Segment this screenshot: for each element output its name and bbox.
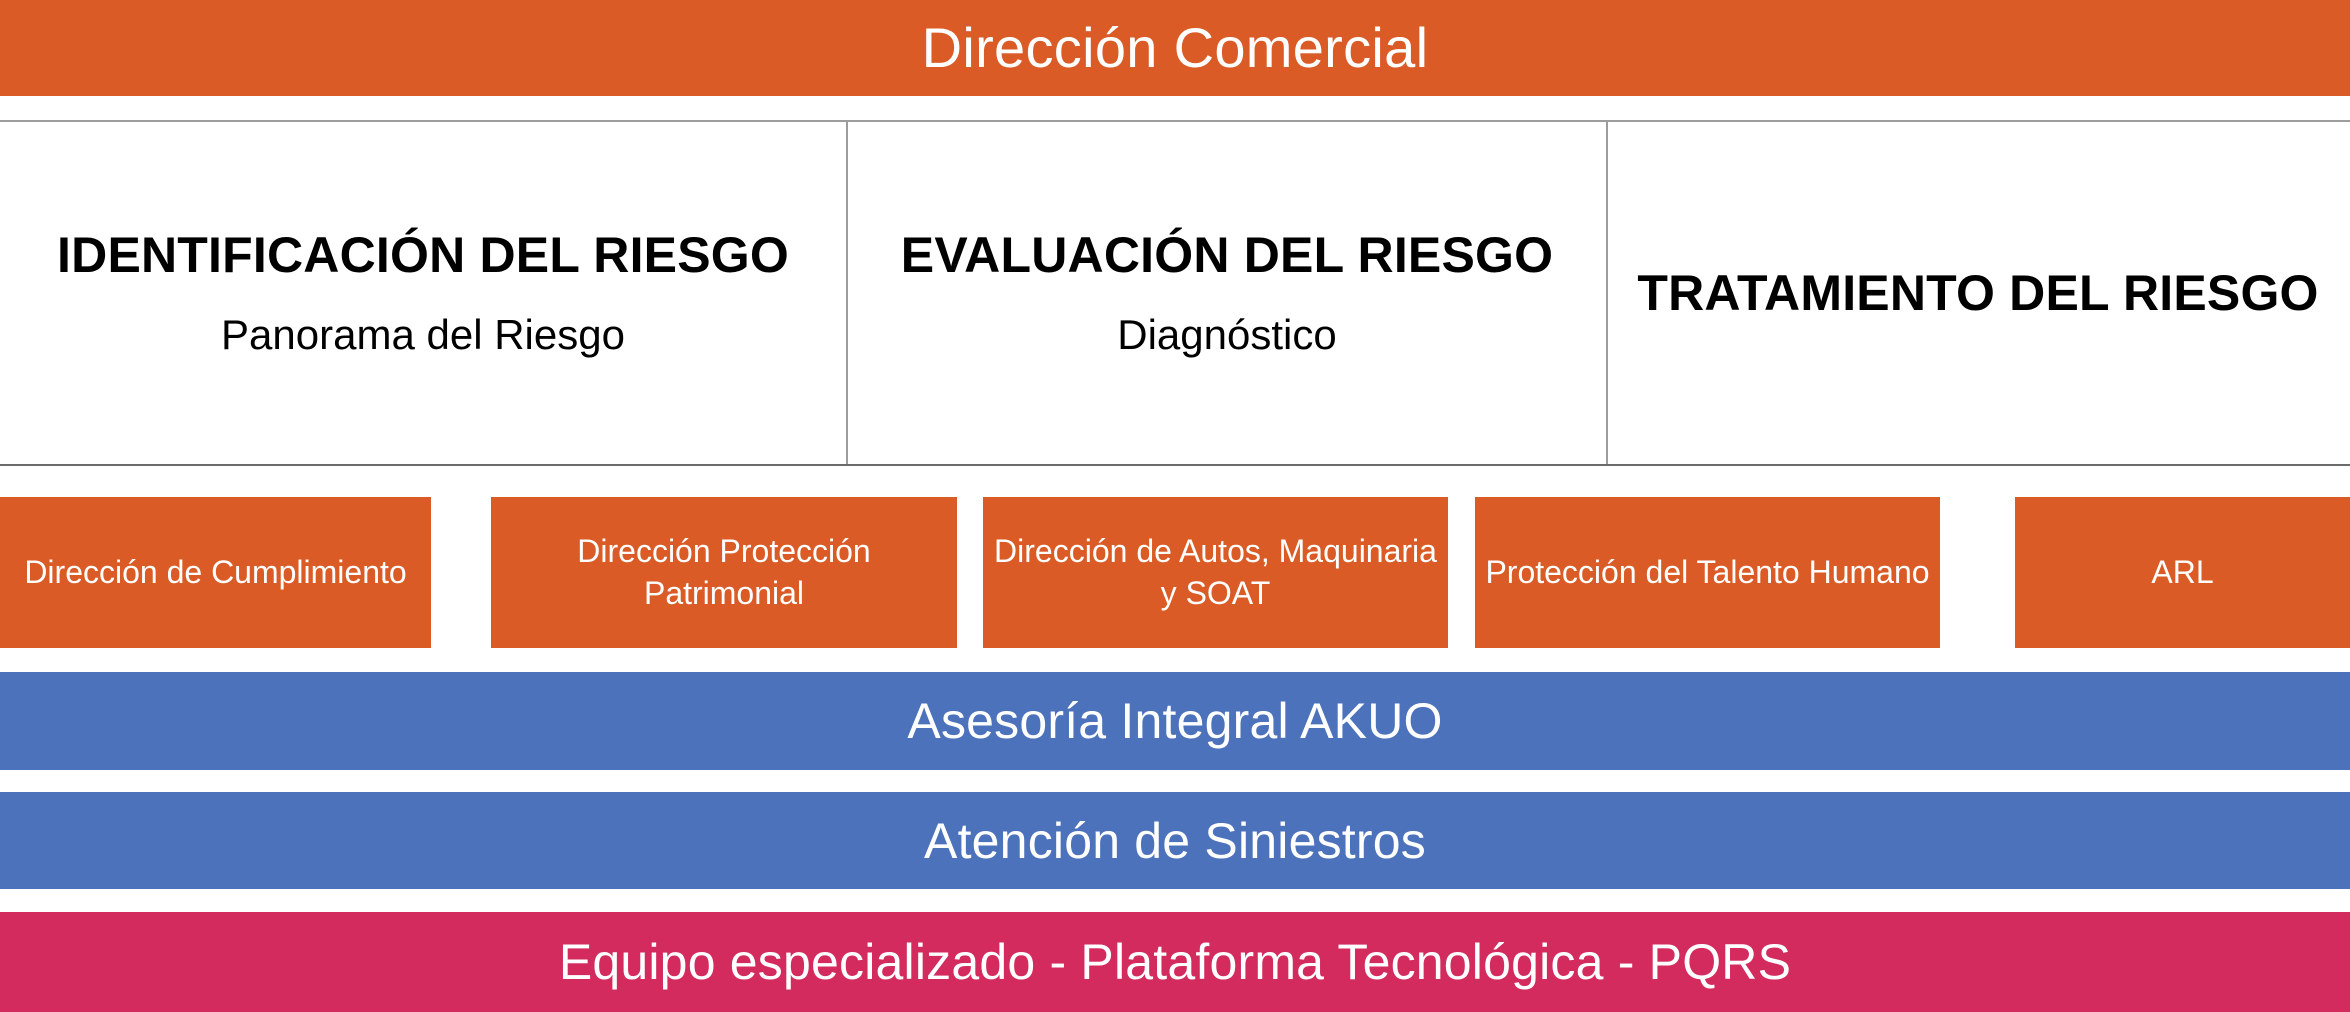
process-column-identificacion: IDENTIFICACIÓN DEL RIESGO Panorama del R…: [0, 122, 848, 464]
department-box-arl[interactable]: ARL: [2015, 497, 2350, 648]
process-column-title: TRATAMIENTO DEL RIESGO: [1637, 264, 2318, 322]
department-box-label: Dirección de Cumplimiento: [24, 552, 406, 594]
service-bar-label: Atención de Siniestros: [924, 816, 1426, 866]
department-box-talento-humano[interactable]: Protección del Talento Humano: [1475, 497, 1940, 648]
department-box-proteccion-patrimonial[interactable]: Dirección Protección Patrimonial: [491, 497, 957, 648]
department-box-label: Dirección de Autos, Maquinaria y SOAT: [993, 531, 1438, 614]
header-title: Dirección Comercial: [922, 20, 1429, 76]
department-box-cumplimiento[interactable]: Dirección de Cumplimiento: [0, 497, 431, 648]
process-column-title: IDENTIFICACIÓN DEL RIESGO: [57, 226, 789, 284]
header-banner: Dirección Comercial: [0, 0, 2350, 96]
risk-management-diagram: Dirección Comercial IDENTIFICACIÓN DEL R…: [0, 0, 2350, 1012]
department-boxes-row: Dirección de Cumplimiento Dirección Prot…: [0, 497, 2350, 648]
process-column-evaluacion: EVALUACIÓN DEL RIESGO Diagnóstico: [848, 122, 1608, 464]
service-bar-equipo-plataforma-pqrs: Equipo especializado - Plataforma Tecnol…: [0, 912, 2350, 1012]
process-columns-row: IDENTIFICACIÓN DEL RIESGO Panorama del R…: [0, 120, 2350, 466]
process-column-subtitle: Panorama del Riesgo: [221, 310, 625, 360]
service-bar-label: Equipo especializado - Plataforma Tecnol…: [559, 937, 1791, 987]
process-column-tratamiento: TRATAMIENTO DEL RIESGO: [1608, 122, 2348, 464]
service-bar-atencion-siniestros: Atención de Siniestros: [0, 792, 2350, 889]
department-box-autos-maquinaria-soat[interactable]: Dirección de Autos, Maquinaria y SOAT: [983, 497, 1448, 648]
department-box-label: Protección del Talento Humano: [1485, 552, 1929, 594]
department-box-label: ARL: [2151, 552, 2213, 594]
department-box-label: Dirección Protección Patrimonial: [501, 531, 947, 614]
process-column-subtitle: Diagnóstico: [1117, 310, 1336, 360]
service-bar-asesoria-integral: Asesoría Integral AKUO: [0, 672, 2350, 770]
service-bar-label: Asesoría Integral AKUO: [907, 696, 1442, 746]
process-column-title: EVALUACIÓN DEL RIESGO: [901, 226, 1553, 284]
